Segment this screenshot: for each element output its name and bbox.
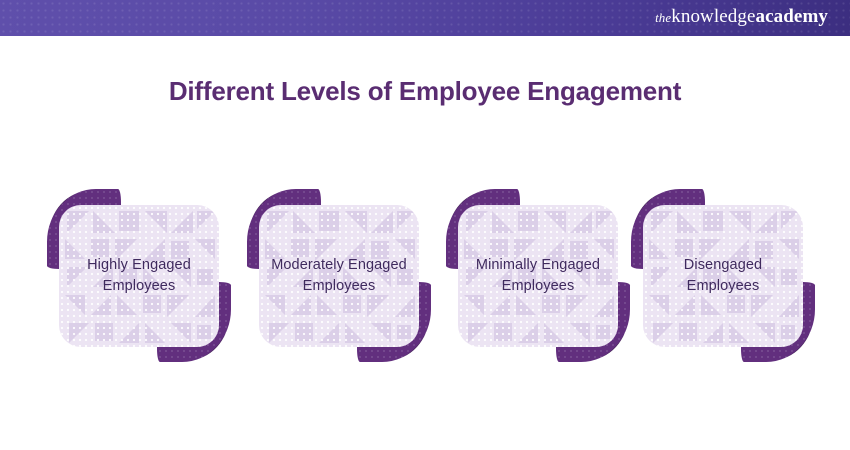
brand-logo-knowledge: knowledge bbox=[671, 6, 755, 27]
card-body: Disengaged Employees bbox=[643, 205, 803, 347]
card-label: Minimally Engaged Employees bbox=[458, 255, 618, 297]
card-label: Disengaged Employees bbox=[643, 255, 803, 297]
header-bar: theknowledgeacademy bbox=[0, 0, 850, 36]
card-highly-engaged[interactable]: Highly Engaged Employees bbox=[47, 189, 231, 362]
page-title: Different Levels of Employee Engagement bbox=[0, 76, 850, 107]
brand-logo-the: the bbox=[655, 10, 671, 25]
brand-logo-academy: academy bbox=[756, 6, 828, 27]
card-body: Highly Engaged Employees bbox=[59, 205, 219, 347]
brand-logo[interactable]: theknowledgeacademy bbox=[655, 6, 828, 29]
cards-row: Highly Engaged Employees bbox=[47, 189, 815, 362]
card-moderately-engaged[interactable]: Moderately Engaged Employees bbox=[247, 189, 431, 362]
card-label: Highly Engaged Employees bbox=[59, 255, 219, 297]
card-minimally-engaged[interactable]: Minimally Engaged Employees bbox=[446, 189, 630, 362]
card-body: Moderately Engaged Employees bbox=[259, 205, 419, 347]
card-label: Moderately Engaged Employees bbox=[259, 255, 419, 297]
card-disengaged[interactable]: Disengaged Employees bbox=[631, 189, 815, 362]
card-body: Minimally Engaged Employees bbox=[458, 205, 618, 347]
